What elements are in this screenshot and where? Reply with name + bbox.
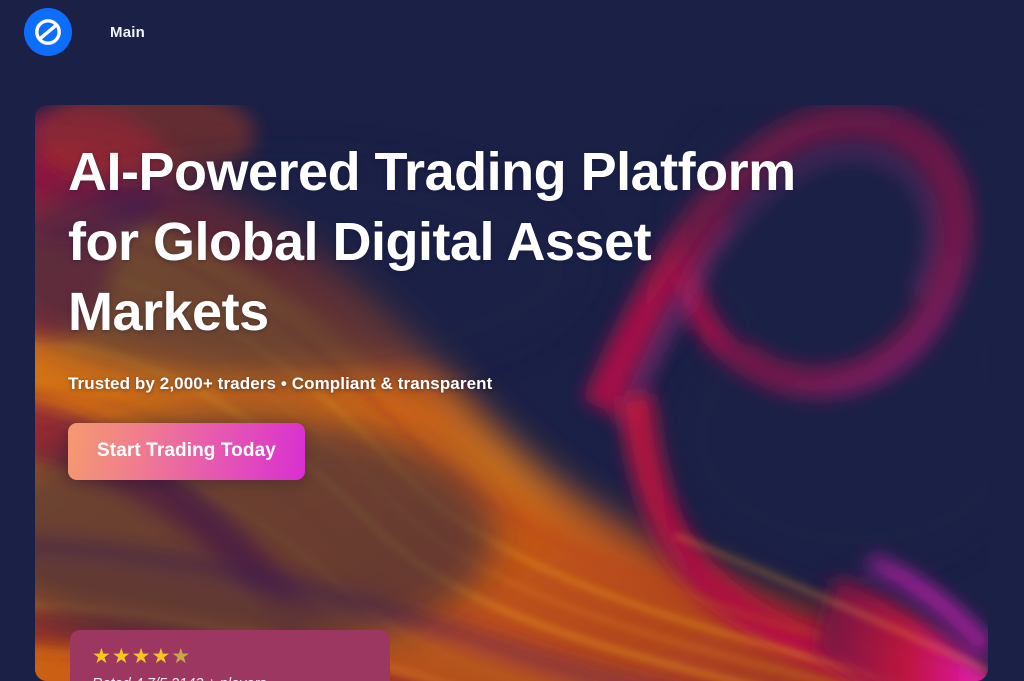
review-card: ★★★★★ Rated 4.7/5 2143 + players Trusted…	[70, 630, 390, 681]
hero-content: AI-Powered Trading Platform for Global D…	[68, 137, 888, 480]
star-icon: ★	[132, 645, 152, 668]
nav-link-main[interactable]: Main	[110, 24, 145, 41]
circle-slash-logo-icon[interactable]	[24, 8, 72, 56]
nav-links: Main	[110, 24, 145, 41]
star-icon: ★	[92, 645, 112, 668]
start-trading-button[interactable]: Start Trading Today	[68, 423, 305, 480]
page-title: AI-Powered Trading Platform for Global D…	[68, 137, 858, 347]
star-icon-partial: ★	[171, 645, 191, 668]
star-icon: ★	[112, 645, 132, 668]
star-rating: ★★★★★	[92, 646, 368, 668]
hero-section: AI-Powered Trading Platform for Global D…	[35, 105, 988, 681]
landing-page: Main	[0, 0, 1024, 681]
review-rating-text: Rated 4.7/5 2143 + players	[92, 675, 368, 681]
top-navbar: Main	[0, 0, 1024, 64]
star-icon: ★	[151, 645, 171, 668]
hero-subtitle: Trusted by 2,000+ traders • Compliant & …	[68, 374, 888, 394]
